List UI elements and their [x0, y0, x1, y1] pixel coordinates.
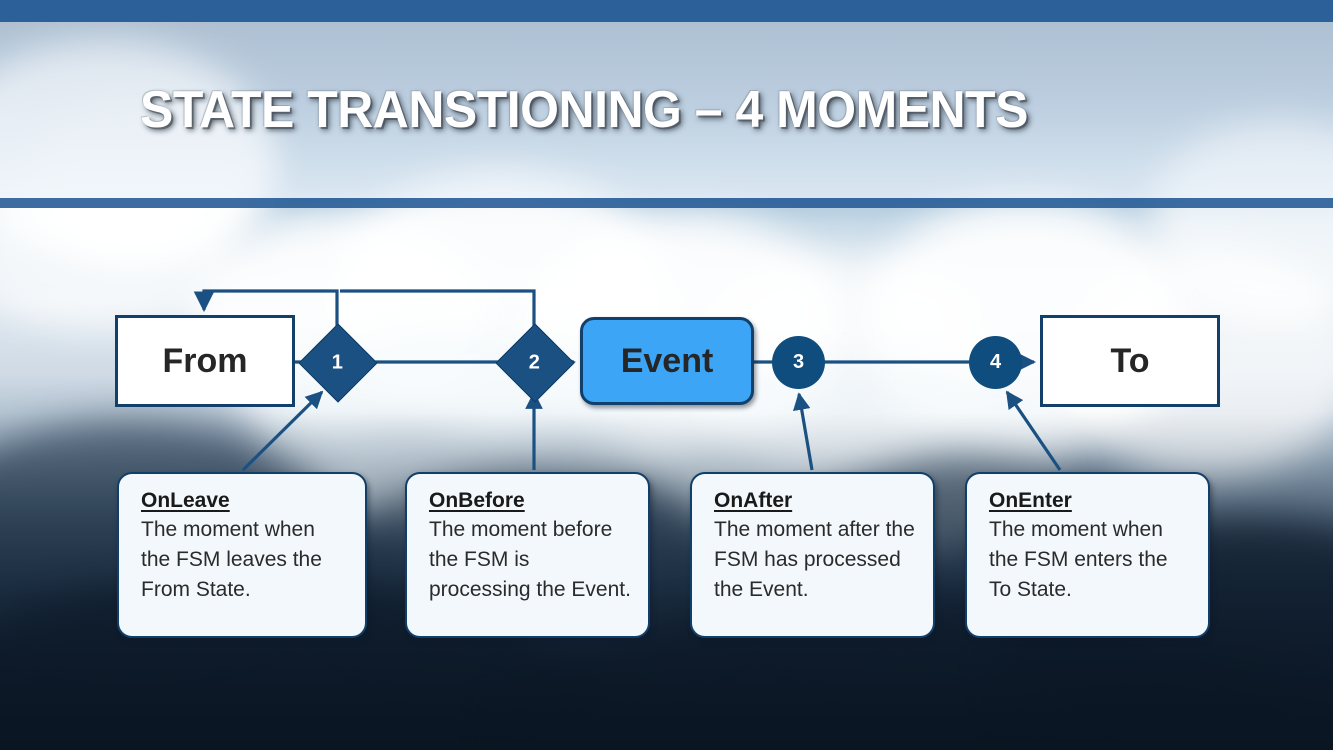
callout-onleave[interactable]: OnLeave The moment when the FSM leaves t… — [117, 472, 367, 638]
moment-marker-4[interactable]: 4 — [969, 336, 1022, 389]
moment-marker-4-label: 4 — [990, 351, 1001, 374]
callout-onafter-body: The moment after the FSM has processed t… — [714, 515, 917, 604]
callout-onenter-title: OnEnter — [989, 488, 1192, 514]
moment-marker-3[interactable]: 3 — [772, 336, 825, 389]
moment-marker-1-label: 1 — [332, 352, 343, 375]
callout-onleave-title: OnLeave — [141, 488, 349, 514]
callout-onenter-body: The moment when the FSM enters the To St… — [989, 515, 1192, 604]
callout-onbefore-title: OnBefore — [429, 488, 632, 514]
callout-onleave-body: The moment when the FSM leaves the From … — [141, 515, 349, 604]
callout-onbefore[interactable]: OnBefore The moment before the FSM is pr… — [405, 472, 650, 638]
callout-onafter-title: OnAfter — [714, 488, 917, 514]
event-box[interactable]: Event — [580, 317, 754, 405]
moment-marker-2-label: 2 — [529, 352, 540, 375]
callout-onbefore-body: The moment before the FSM is processing … — [429, 515, 632, 604]
presentation-slide: STATE TRANSTIONING – 4 MOMENTS — [0, 0, 1333, 750]
moment-marker-3-label: 3 — [793, 351, 804, 374]
state-box-from[interactable]: From — [115, 315, 295, 407]
state-box-to[interactable]: To — [1040, 315, 1220, 407]
callout-onenter[interactable]: OnEnter The moment when the FSM enters t… — [965, 472, 1210, 638]
callout-onafter[interactable]: OnAfter The moment after the FSM has pro… — [690, 472, 935, 638]
